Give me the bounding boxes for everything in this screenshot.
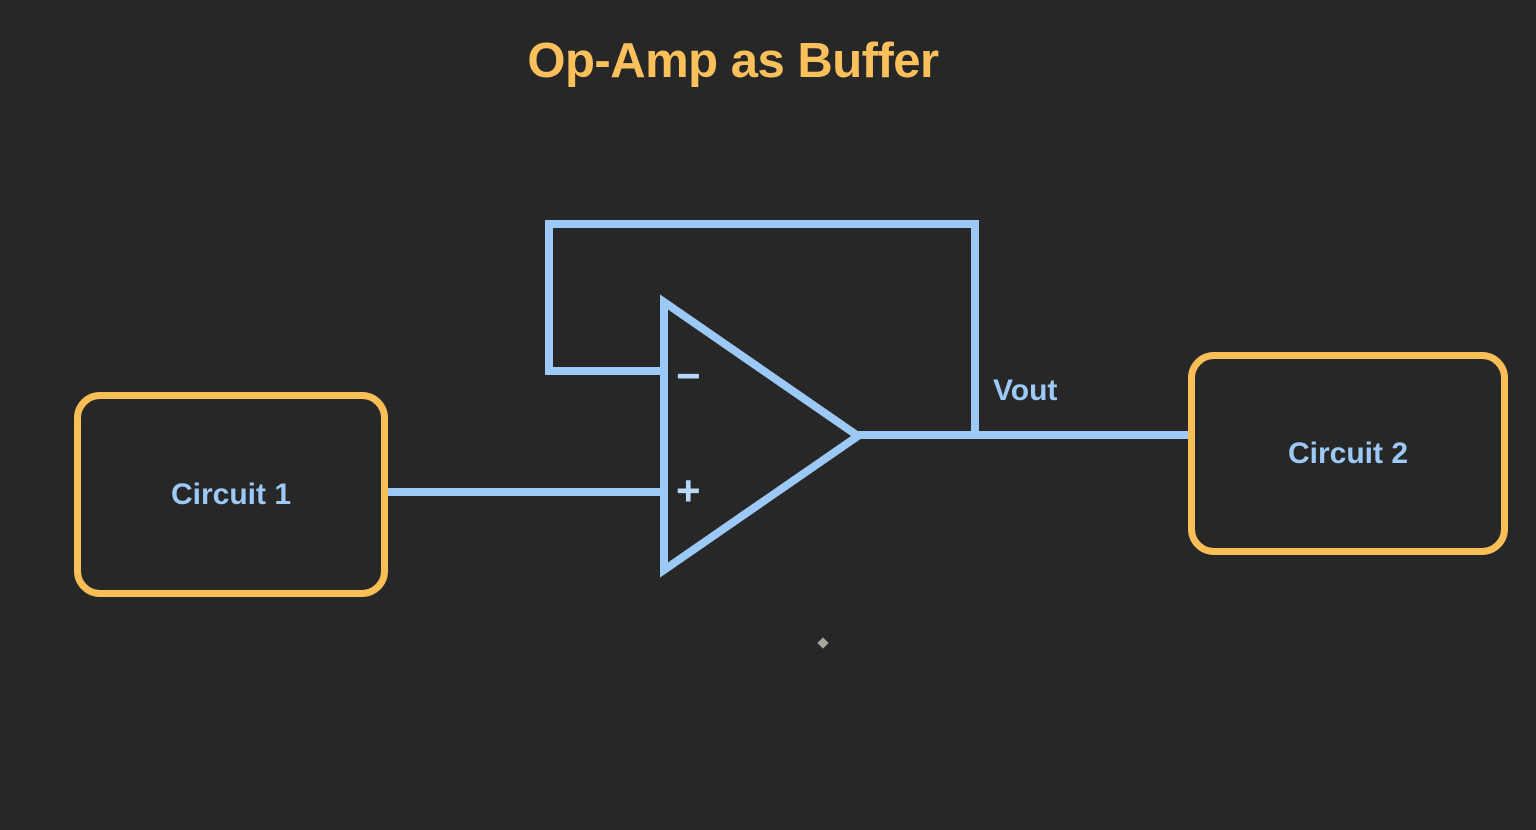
vout-label: Vout xyxy=(993,374,1057,408)
non-inverting-input-label: + xyxy=(676,470,701,512)
inverting-input-label: − xyxy=(676,355,701,397)
page-title: Op-Amp as Buffer xyxy=(0,33,1466,89)
diagram-canvas: Op-Amp as Buffer Circuit 1 Circuit 2 − +… xyxy=(0,0,1536,830)
circuit-2-label: Circuit 2 xyxy=(1288,437,1408,471)
feedback-loop-wire xyxy=(549,224,975,435)
cursor-dot-marker xyxy=(817,637,828,648)
circuit-2-block[interactable]: Circuit 2 xyxy=(1188,352,1508,555)
opamp-triangle-icon xyxy=(664,302,858,570)
circuit-1-label: Circuit 1 xyxy=(171,478,291,512)
circuit-1-block[interactable]: Circuit 1 xyxy=(74,392,388,597)
